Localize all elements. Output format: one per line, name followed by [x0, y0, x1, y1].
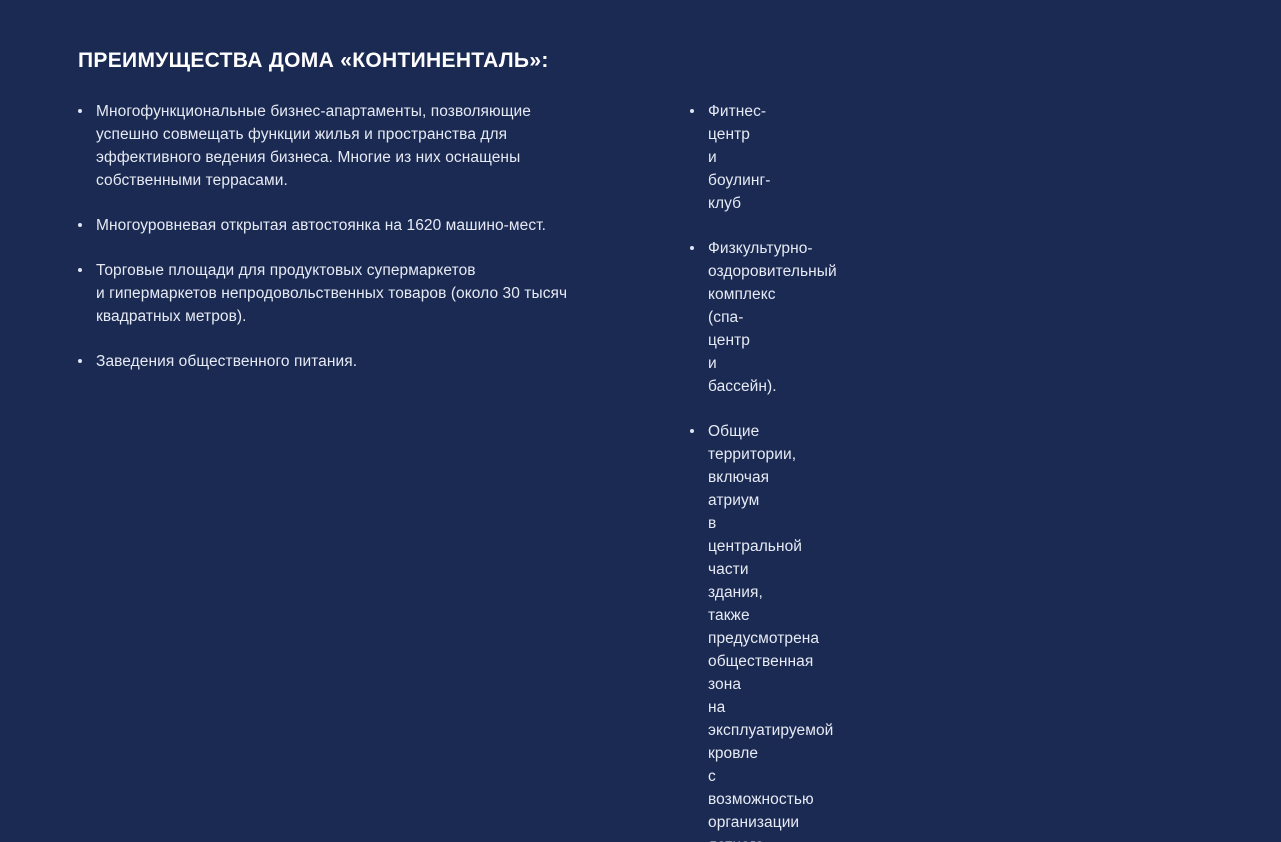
list-item-text: Многоуровневая открытая автостоянка на 1…: [96, 214, 670, 237]
advantages-section: ПРЕИМУЩЕСТВА ДОМА «КОНТИНЕНТАЛЬ»: Многоф…: [0, 0, 1281, 421]
list-item: Многоуровневая открытая автостоянка на 1…: [78, 214, 670, 237]
bullet-dot-icon: [78, 268, 82, 272]
list-item: Общие территории, включая атриум в центр…: [690, 420, 708, 842]
advantages-column-right: Фитнес-центр и боулинг-клуб Физкультурно…: [0, 100, 720, 842]
list-item: Фитнес-центр и боулинг-клуб: [690, 100, 708, 215]
list-item: Заведения общественного питания.: [78, 350, 670, 373]
bullet-dot-icon: [78, 359, 82, 363]
page-title: ПРЕИМУЩЕСТВА ДОМА «КОНТИНЕНТАЛЬ»:: [78, 47, 549, 75]
bullet-dot-icon: [78, 223, 82, 227]
list-item-text: Многофункциональные бизнес-апартаменты, …: [96, 100, 670, 192]
list-item: Торговые площади для продуктовых суперма…: [78, 259, 670, 328]
bullet-dot-icon: [690, 429, 694, 433]
bullet-dot-icon: [690, 246, 694, 250]
list-item-text: Заведения общественного питания.: [96, 350, 670, 373]
bullet-dot-icon: [78, 109, 82, 113]
list-item-text: Торговые площади для продуктовых суперма…: [96, 259, 670, 328]
bullet-dot-icon: [690, 109, 694, 113]
list-item: Многофункциональные бизнес-апартаменты, …: [78, 100, 670, 192]
list-item: Физкультурно-оздоровительный комплекс (с…: [690, 237, 708, 398]
advantages-columns: Многофункциональные бизнес-апартаменты, …: [0, 100, 1281, 842]
